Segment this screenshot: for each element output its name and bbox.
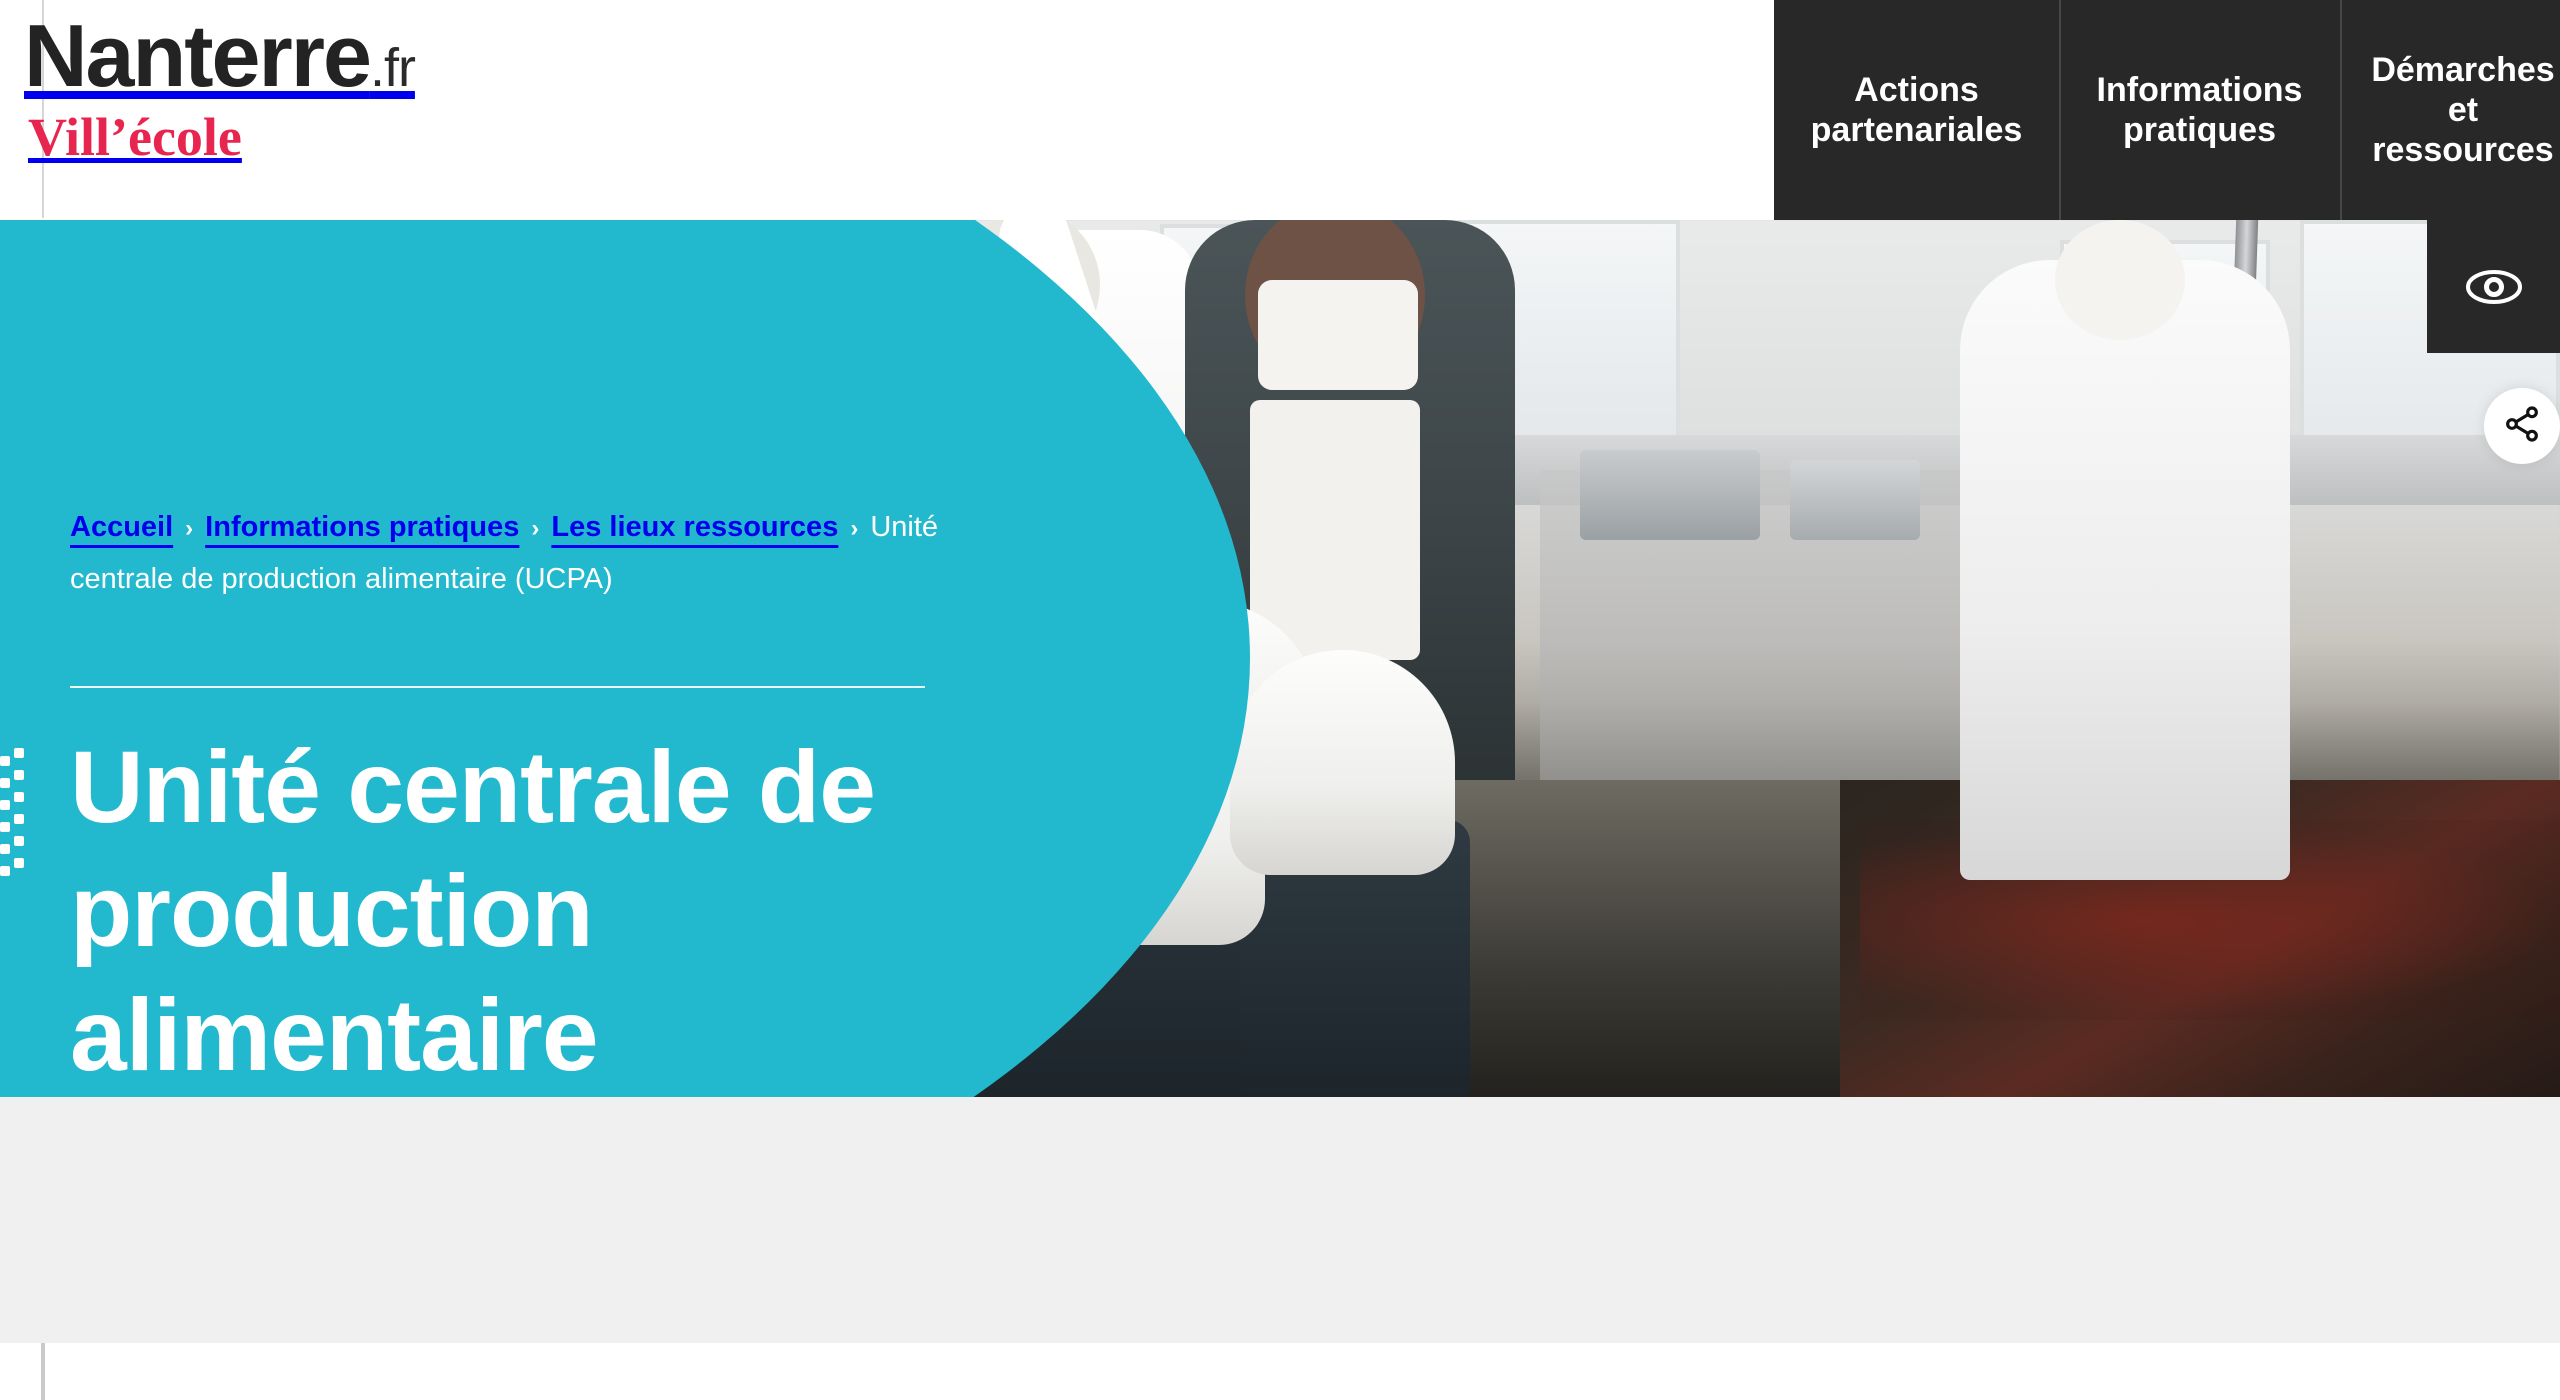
content-left-rule <box>41 1343 45 1400</box>
photo-pot <box>1580 450 1760 540</box>
breadcrumb: Accueil›Informations pratiques›Les lieux… <box>70 502 970 604</box>
nav-item-demarches-et-ressources[interactable]: Démarches et ressources <box>2340 0 2560 220</box>
site-header: Nanterre.fr Vill’école Actions partenari… <box>0 0 2560 220</box>
breadcrumb-separator-icon: › <box>850 504 858 554</box>
nav-item-informations-pratiques[interactable]: Informations pratiques <box>2059 0 2340 220</box>
photo-cook <box>1960 260 2290 880</box>
nav-item-actions-partenariales[interactable]: Actions partenariales <box>1774 0 2059 220</box>
accessibility-button[interactable] <box>2427 220 2560 353</box>
main-navigation: Actions partenariales Informations prati… <box>1774 0 2560 220</box>
eye-icon <box>2465 267 2523 307</box>
share-icon <box>2502 404 2542 449</box>
photo-child-hat <box>1230 650 1455 875</box>
page-title: Unité centrale de production alimentaire… <box>70 725 890 1097</box>
photo-adult-mask <box>1258 280 1418 390</box>
breadcrumb-item-accueil[interactable]: Accueil <box>70 511 173 543</box>
logo-main-text: Nanterre <box>24 6 370 105</box>
content-meta-band: Dernière mise à jour : 29 août 2024 <box>0 1097 2560 1343</box>
breadcrumb-separator-icon: › <box>531 504 539 554</box>
hero-divider <box>70 686 925 688</box>
page-root: Accueil›Informations pratiques›Les lieux… <box>0 0 2560 1400</box>
breadcrumb-separator-icon: › <box>185 504 193 554</box>
logo-tagline: Vill’école <box>28 112 584 162</box>
breadcrumb-item-les-lieux-ressources[interactable]: Les lieux ressources <box>551 511 838 543</box>
photo-adult-torso <box>1250 400 1420 660</box>
decorative-dots <box>0 748 26 878</box>
photo-cook-head <box>2055 220 2185 340</box>
logo-wordmark: Nanterre.fr <box>24 8 584 116</box>
share-button[interactable] <box>2484 388 2560 464</box>
hero-banner: Accueil›Informations pratiques›Les lieux… <box>0 220 2560 1097</box>
breadcrumb-item-informations-pratiques[interactable]: Informations pratiques <box>205 511 519 543</box>
site-logo[interactable]: Nanterre.fr Vill’école <box>24 8 584 168</box>
logo-tld-text: .fr <box>370 38 415 98</box>
photo-pot <box>1790 460 1920 540</box>
